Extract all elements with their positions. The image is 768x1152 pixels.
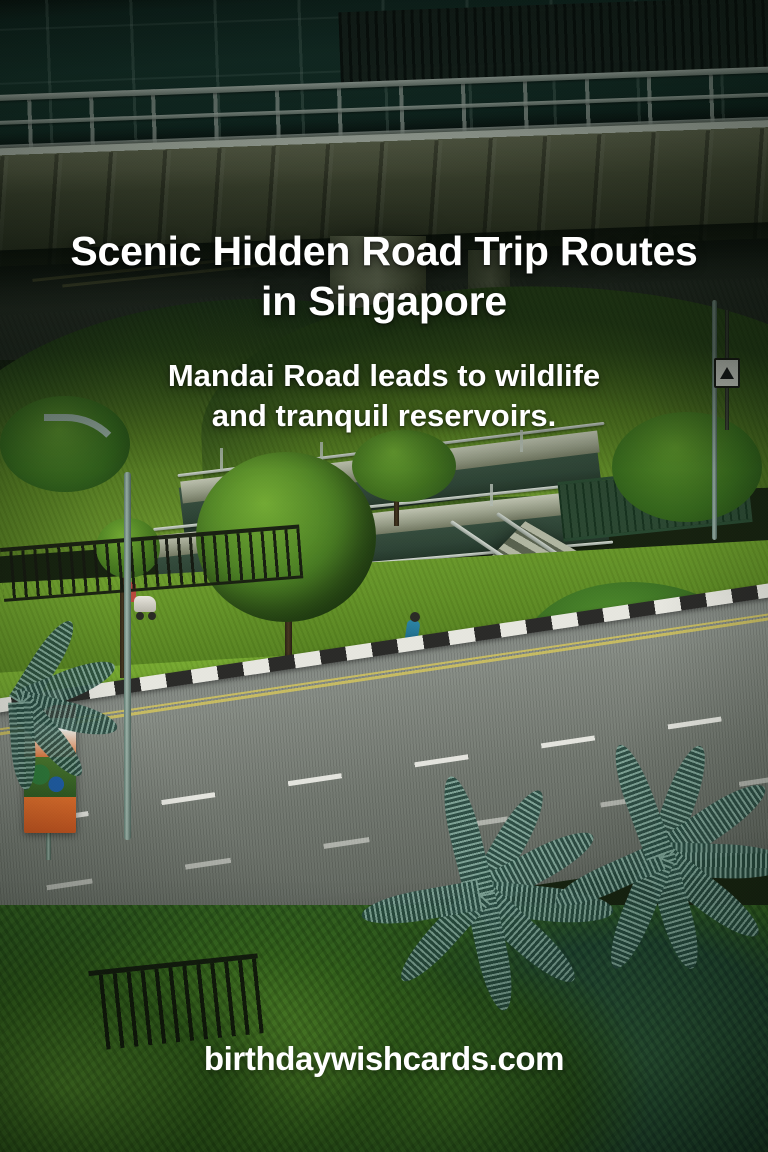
text-overlay: Scenic Hidden Road Trip Routes in Singap… (0, 0, 768, 1152)
headline-line-1: Scenic Hidden Road Trip Routes (14, 226, 754, 276)
site-watermark: birthdaywishcards.com (0, 1040, 768, 1078)
page-title: Scenic Hidden Road Trip Routes in Singap… (0, 226, 768, 326)
page-subtitle: Mandai Road leads to wildlife and tranqu… (0, 356, 768, 437)
headline-line-2: in Singapore (14, 276, 754, 326)
pin-card: ★★★★★ (0, 0, 768, 1152)
subhead-line-1: Mandai Road leads to wildlife (48, 356, 720, 396)
subhead-line-2: and tranquil reservoirs. (48, 396, 720, 436)
